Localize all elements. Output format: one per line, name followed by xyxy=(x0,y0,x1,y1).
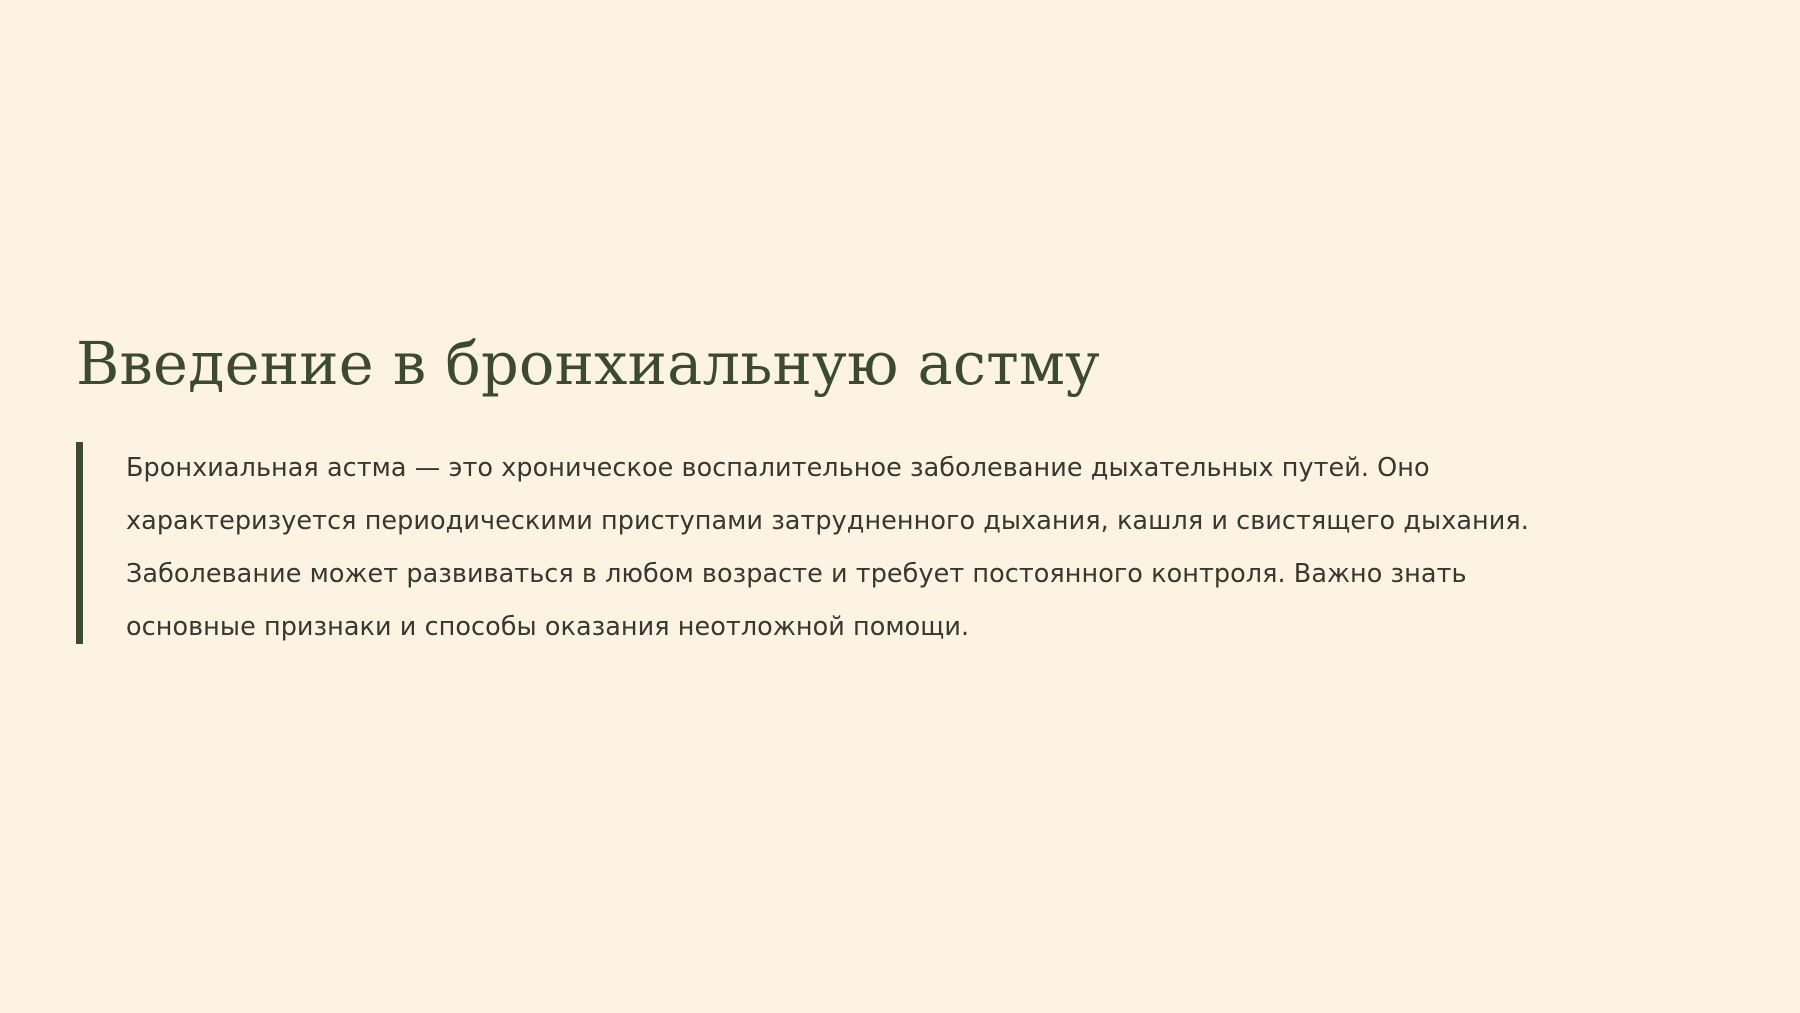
accent-bar xyxy=(76,442,83,644)
intro-callout: Бронхиальная астма — это хроническое вос… xyxy=(76,442,1696,654)
intro-paragraph: Бронхиальная астма — это хроническое вос… xyxy=(126,442,1551,654)
page-title: Введение в бронхиальную астму xyxy=(76,330,1696,398)
slide-content: Введение в бронхиальную астму Бронхиальн… xyxy=(76,330,1696,654)
slide-root: Введение в бронхиальную астму Бронхиальн… xyxy=(0,0,1800,1013)
